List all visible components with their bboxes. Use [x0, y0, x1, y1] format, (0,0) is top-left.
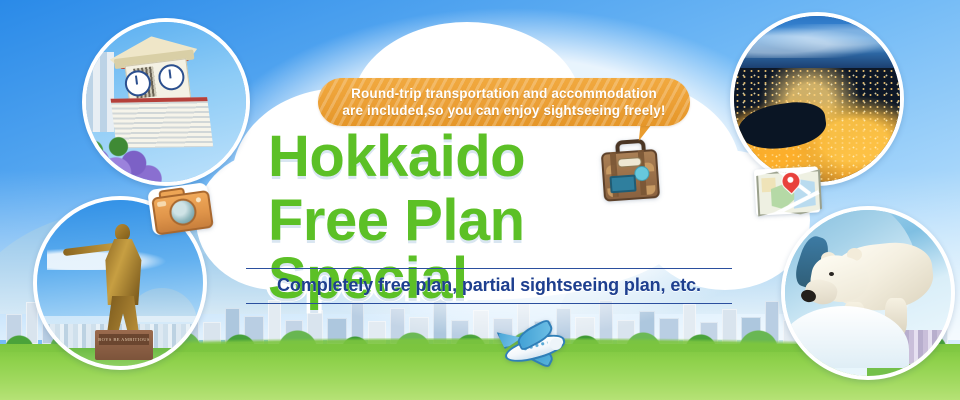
photo-clock-tower[interactable] [82, 18, 250, 186]
photo-polar-bear[interactable] [781, 206, 955, 380]
promo-line-1: Round-trip transportation and accommodat… [351, 85, 657, 102]
promo-speech-bubble-text: Round-trip transportation and accommodat… [318, 78, 690, 126]
photo-night-view[interactable] [730, 12, 904, 186]
camera-icon [147, 182, 213, 236]
subtitle-text: Completely free plan, partial sightseein… [246, 275, 732, 296]
promo-line-2: are included,so you can enjoy sightseein… [342, 102, 665, 119]
subtitle-container: Completely free plan, partial sightseein… [246, 268, 732, 304]
airplane-icon [496, 320, 568, 370]
hokkaido-travel-banner[interactable]: BOYS BE AMBITIOUS [0, 0, 960, 400]
promo-speech-bubble: Round-trip transportation and accommodat… [318, 78, 690, 126]
photo-night-view-image [734, 16, 900, 182]
map-pin-icon [754, 166, 820, 215]
statue-plaque: BOYS BE AMBITIOUS [99, 334, 149, 345]
statue-plaque-text: BOYS BE AMBITIOUS [98, 337, 150, 342]
headline-line-1: Hokkaido [268, 128, 698, 186]
photo-clock-tower-image [86, 22, 246, 182]
photo-polar-bear-image [785, 210, 951, 376]
